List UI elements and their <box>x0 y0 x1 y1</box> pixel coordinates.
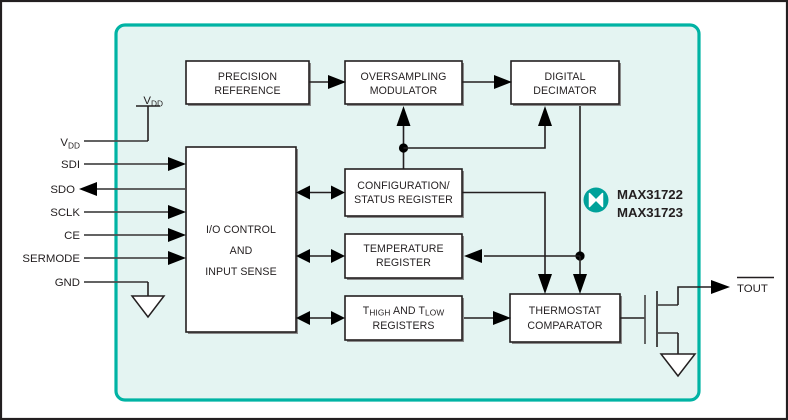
block-digital-decimator-line-2: DECIMATOR <box>533 85 597 97</box>
block-digital-decimator-line-1: DIGITAL <box>544 71 585 83</box>
pin-label-ce: CE <box>64 230 80 242</box>
pin-vdd-sub: DD <box>68 141 80 151</box>
block-io-control-line-3: INPUT SENSE <box>205 266 277 278</box>
block-diagram-canvas: PRECISION REFERENCE OVERSAMPLING MODULAT… <box>0 0 788 420</box>
block-temperature-register-line-1: TEMPERATURE <box>363 243 443 255</box>
block-thigh-tlow-registers-line-2: REGISTERS <box>372 320 434 332</box>
part-number-max31722: MAX31722 <box>617 187 683 202</box>
block-thermostat-comparator-line-1: THERMOSTAT <box>529 305 602 317</box>
block-configuration-status-register-line-2: STATUS REGISTER <box>354 194 453 206</box>
internal-vdd-sub: DD <box>151 99 163 109</box>
block-io-control-line-1: I/O CONTROL <box>206 224 276 236</box>
block-precision-reference-line-1: PRECISION <box>218 71 277 83</box>
block-digital-decimator: DIGITAL DECIMATOR <box>511 61 621 106</box>
block-configuration-status-register-line-1: CONFIGURATION/ <box>357 180 449 192</box>
block-thermostat-comparator-line-2: COMPARATOR <box>527 320 602 332</box>
block-precision-reference: PRECISION REFERENCE <box>186 61 311 106</box>
block-configuration-status-register: CONFIGURATION/ STATUS REGISTER <box>345 169 464 218</box>
tlow-sub: LOW <box>425 308 444 318</box>
block-io-control: I/O CONTROL AND INPUT SENSE <box>186 147 298 334</box>
block-diagram-figure: PRECISION REFERENCE OVERSAMPLING MODULAT… <box>0 0 788 420</box>
thigh-sub: HIGH <box>369 308 390 318</box>
block-precision-reference-line-2: REFERENCE <box>214 85 280 97</box>
pin-label-sclk: SCLK <box>50 207 80 219</box>
block-temperature-register: TEMPERATURE REGISTER <box>345 234 464 280</box>
block-thigh-tlow-registers-line-1: THIGH AND TLOW <box>363 305 445 318</box>
pin-label-gnd: GND <box>55 277 80 289</box>
block-thermostat-comparator: THERMOSTAT COMPARATOR <box>510 294 622 344</box>
block-oversampling-modulator-line-2: MODULATOR <box>370 85 438 97</box>
block-oversampling-modulator: OVERSAMPLING MODULATOR <box>345 61 464 106</box>
pin-label-tout: TOUT <box>737 283 768 295</box>
part-number-max31723: MAX31723 <box>617 205 683 220</box>
block-oversampling-modulator-line-1: OVERSAMPLING <box>361 71 447 83</box>
pin-label-sermode: SERMODE <box>22 253 80 265</box>
block-io-control-line-2: AND <box>230 245 253 257</box>
pin-label-sdo: SDO <box>50 184 75 196</box>
pin-label-sdi: SDI <box>61 159 80 171</box>
block-temperature-register-line-2: REGISTER <box>376 257 431 269</box>
block-thigh-tlow-registers: THIGH AND TLOW REGISTERS <box>345 296 464 342</box>
maxim-logo <box>584 188 609 213</box>
